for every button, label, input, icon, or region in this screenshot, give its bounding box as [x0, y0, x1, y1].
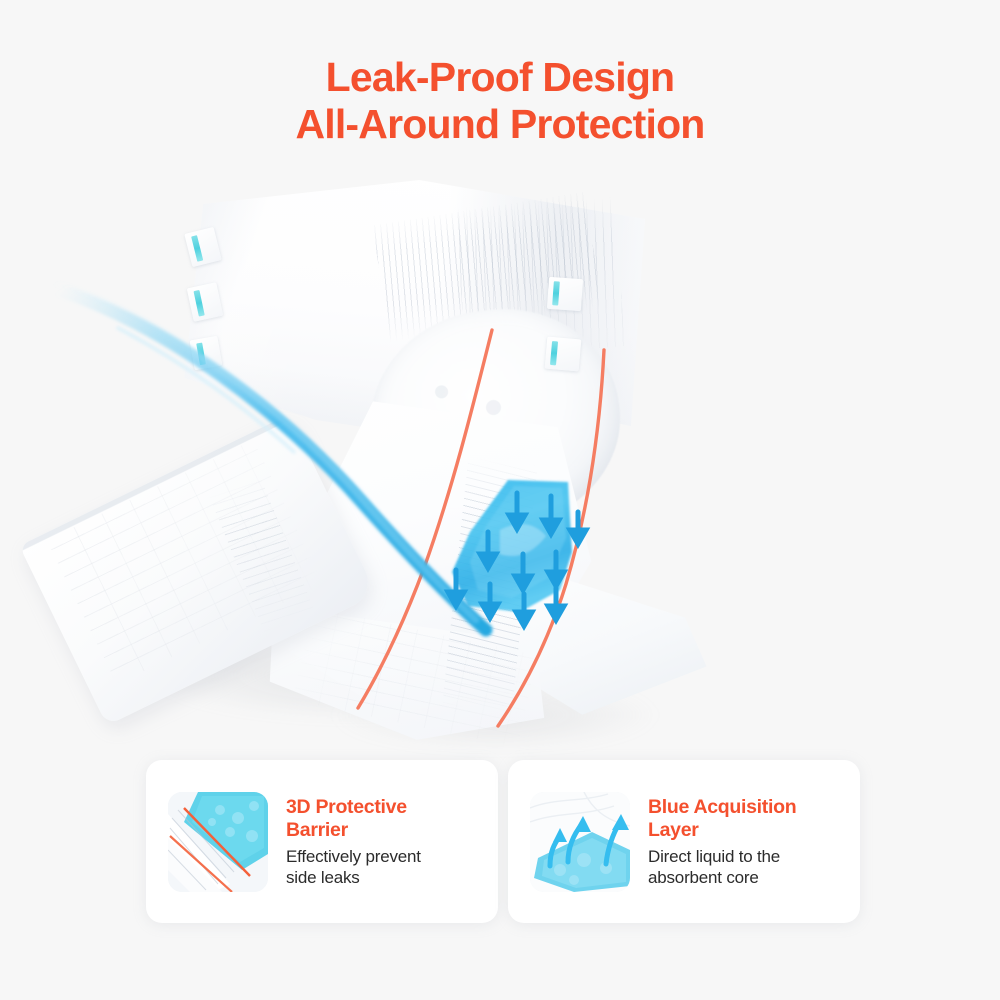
fastening-tab-left-3: [190, 336, 223, 370]
feature-card-text: 3D Protective Barrier Effectively preven…: [286, 796, 421, 888]
fastening-tab-right-2: [545, 337, 582, 372]
tab-marker-icon: [552, 281, 560, 305]
tab-marker-icon: [193, 290, 204, 317]
feature-card-title: Blue Acquisition Layer: [648, 796, 796, 842]
headline-line-2: All-Around Protection: [0, 101, 1000, 148]
tab-marker-icon: [550, 341, 558, 365]
feature-cards: 3D Protective Barrier Effectively preven…: [0, 760, 1000, 930]
feature-card-description: Direct liquid to the absorbent core: [648, 846, 796, 888]
feature-card-title: 3D Protective Barrier: [286, 796, 421, 842]
feature-card-blue-acquisition-layer[interactable]: Blue Acquisition Layer Direct liquid to …: [508, 760, 860, 923]
hero-product-image: [0, 160, 1000, 760]
page-title: Leak-Proof Design All-Around Protection: [0, 54, 1000, 148]
headline-line-1: Leak-Proof Design: [0, 54, 1000, 101]
feature-card-description: Effectively prevent side leaks: [286, 846, 421, 888]
feature-card-text: Blue Acquisition Layer Direct liquid to …: [648, 796, 796, 888]
barrier-cuff-thumbnail: [168, 792, 268, 892]
fastening-tab-right-1: [547, 277, 583, 311]
feature-card-3d-protective-barrier[interactable]: 3D Protective Barrier Effectively preven…: [146, 760, 498, 923]
tab-marker-icon: [191, 235, 203, 262]
acquisition-layer-thumbnail: [530, 792, 630, 892]
tab-marker-icon: [196, 343, 206, 366]
